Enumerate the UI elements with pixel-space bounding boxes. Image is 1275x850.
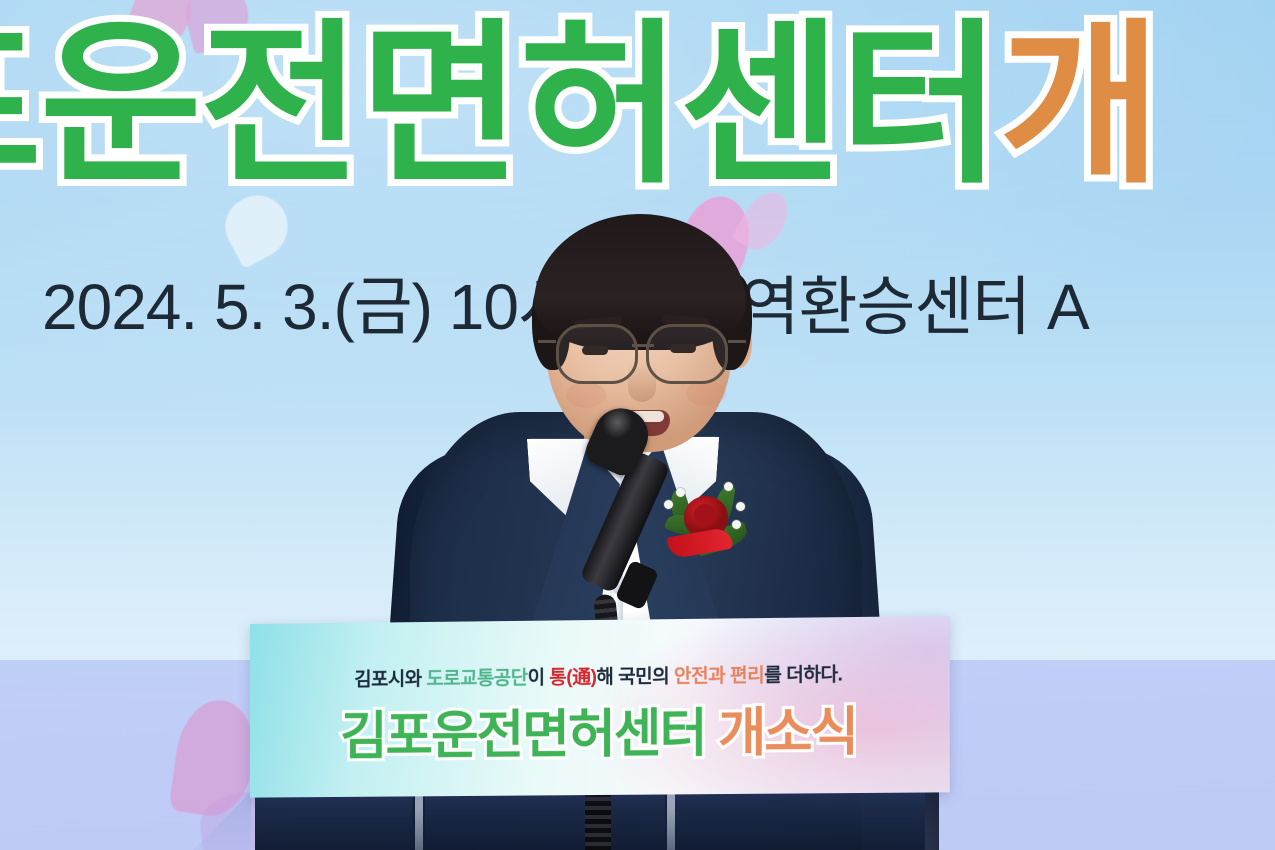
glasses-temple-right — [728, 340, 746, 343]
podium-title-green: 김포운전면허센터 — [340, 705, 705, 766]
accent-flower — [736, 502, 745, 511]
banner-headline-green: 포운전면허센터 — [0, 8, 999, 204]
banner-headline: 포운전면허센터개 — [0, 6, 1275, 206]
podium-title-orange: 개소식 — [706, 703, 857, 763]
tagline-seg-4: 통(通) — [549, 667, 596, 688]
tagline-seg-5: 해 국민의 — [596, 666, 674, 688]
glasses-bridge — [632, 344, 654, 347]
accent-flower — [724, 482, 733, 491]
rose-boutonniere-icon — [662, 470, 754, 562]
glasses-lens-left — [556, 324, 638, 384]
glasses-lens-right — [646, 324, 728, 384]
podium-tagline: 김포시와 도로교통공단이 통(通)해 국민의 안전과 편리를 더하다. — [250, 658, 950, 692]
rose-inner-fold — [694, 504, 716, 526]
tagline-seg-1: 김포시와 — [354, 669, 426, 691]
cheek-left — [566, 382, 606, 408]
glasses-temple-left — [538, 340, 556, 343]
microphone-cable — [585, 792, 611, 850]
photo-canvas: 포운전면허센터개 2024. 5. 3.(금) 10시 | 운양역환승센터 A — [0, 0, 1275, 850]
podium-panel — [255, 792, 413, 850]
podium-panel — [425, 792, 665, 850]
podium: 김포시와 도로교통공단이 통(通)해 국민의 안전과 편리를 더하다. 김포운전… — [247, 620, 947, 850]
podium-highlight — [415, 792, 423, 850]
podium-body — [255, 792, 939, 850]
accent-flower — [664, 500, 673, 509]
tagline-seg-3: 이 — [528, 668, 550, 689]
tagline-seg-2: 도로교통공단 — [426, 668, 527, 690]
accent-flower — [732, 520, 741, 529]
nose — [628, 364, 656, 402]
podium-title: 김포운전면허센터 개소식 — [250, 688, 950, 769]
tagline-seg-7: 를 더하다. — [764, 664, 842, 686]
tagline-seg-6: 안전과 편리 — [674, 665, 764, 687]
banner-headline-orange: 개 — [999, 8, 1159, 204]
podium-signboard: 김포시와 도로교통공단이 통(通)해 국민의 안전과 편리를 더하다. 김포운전… — [250, 616, 950, 798]
accent-flower — [676, 488, 685, 497]
podium-panel — [675, 792, 925, 850]
podium-highlight — [667, 792, 675, 850]
